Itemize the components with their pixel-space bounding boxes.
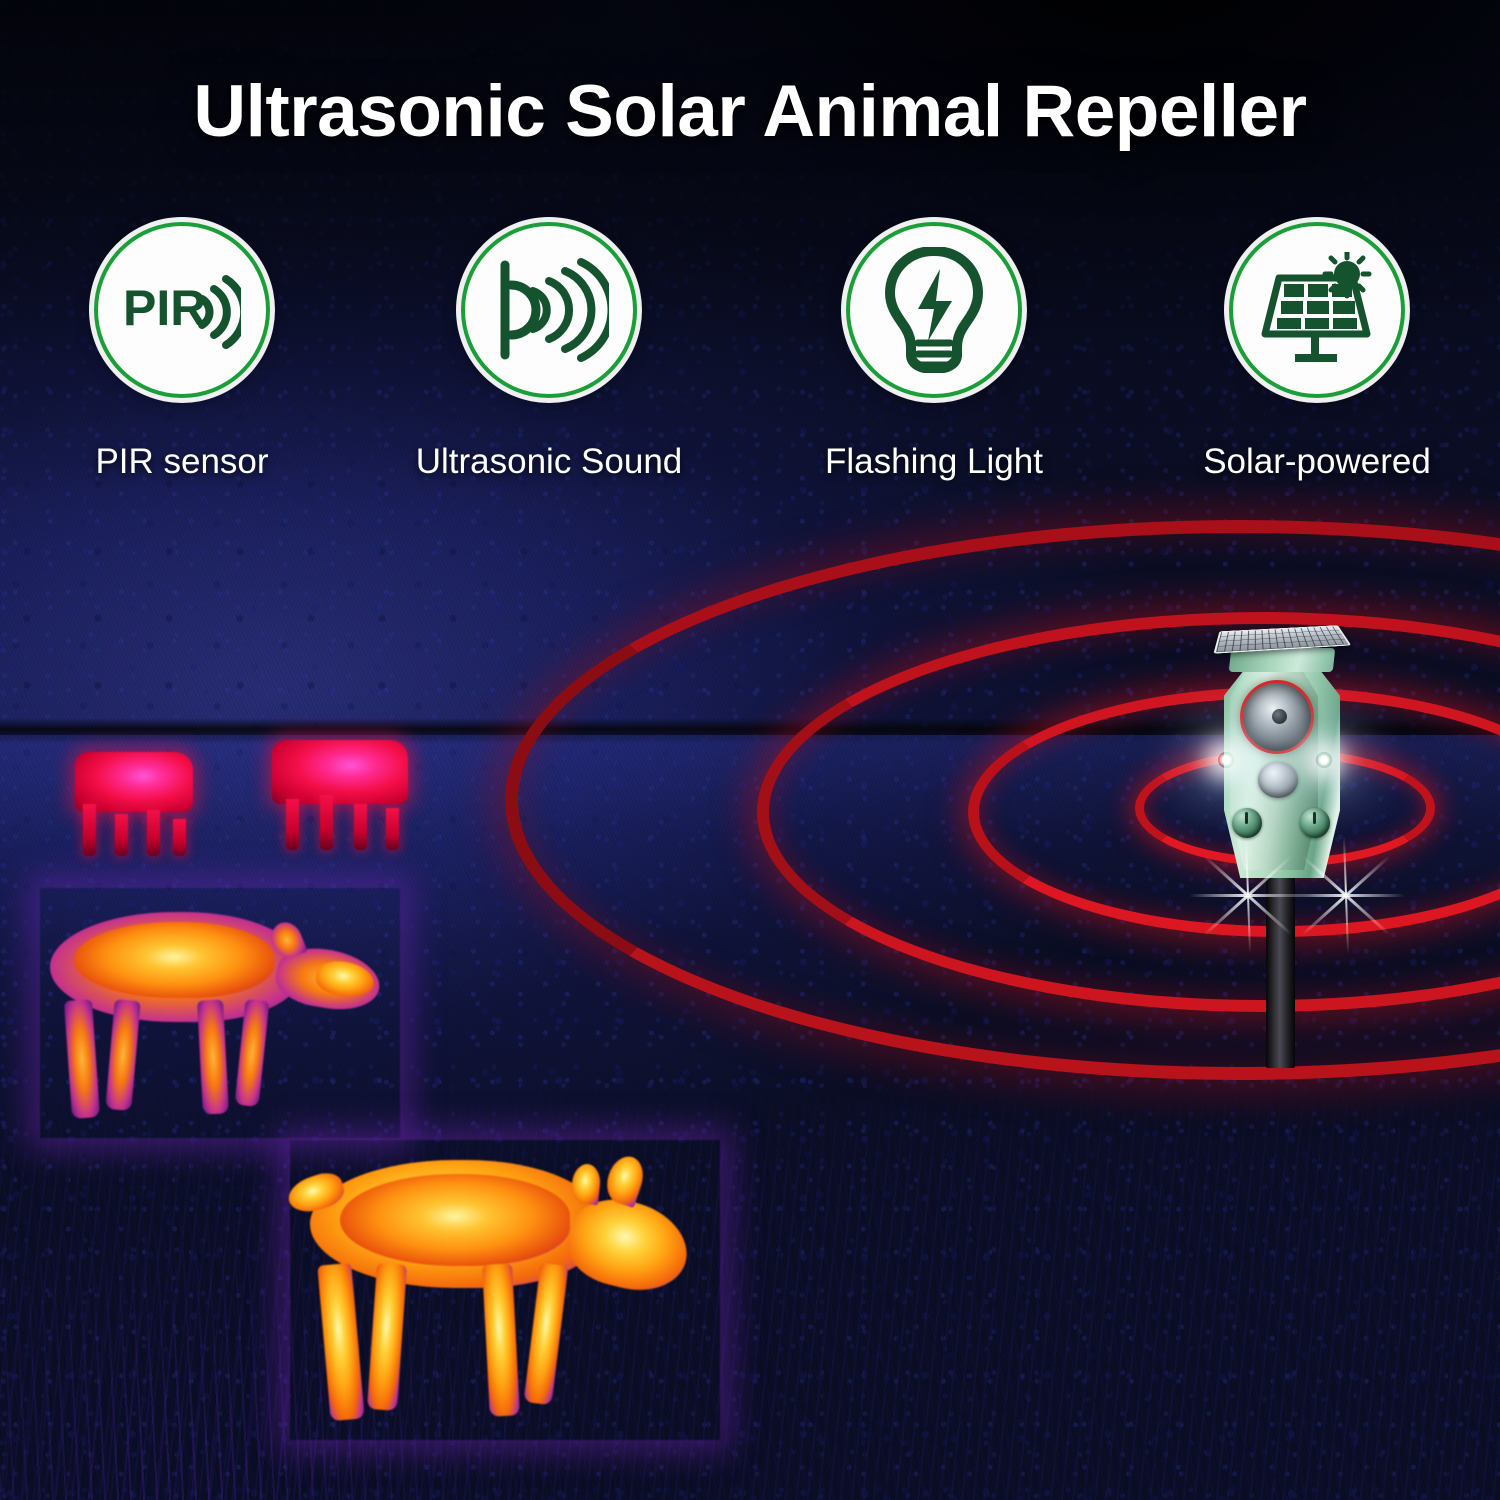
content-overlay: Ultrasonic Solar Animal Repeller PIR PIR… bbox=[0, 0, 1500, 1500]
feature-item-flashing-light: Flashing Light bbox=[734, 222, 1134, 482]
feature-item-solar-powered: Solar-powered bbox=[1134, 222, 1500, 482]
solar-panel-sun-icon bbox=[1229, 222, 1405, 398]
feature-list: PIR PIR sensor bbox=[0, 222, 1500, 482]
feature-label: PIR sensor bbox=[95, 442, 268, 482]
feature-item-ultrasonic-sound: Ultrasonic Sound bbox=[364, 222, 734, 482]
ultrasonic-speaker-icon bbox=[461, 222, 637, 398]
feature-item-pir-sensor: PIR PIR sensor bbox=[0, 222, 364, 482]
lightbulb-bolt-icon bbox=[846, 222, 1022, 398]
pir-motion-sensor-icon: PIR bbox=[94, 222, 270, 398]
feature-label: Flashing Light bbox=[825, 442, 1043, 482]
feature-label: Ultrasonic Sound bbox=[416, 442, 683, 482]
page-title: Ultrasonic Solar Animal Repeller bbox=[0, 74, 1500, 151]
svg-text:PIR: PIR bbox=[123, 280, 206, 336]
feature-label: Solar-powered bbox=[1203, 442, 1431, 482]
